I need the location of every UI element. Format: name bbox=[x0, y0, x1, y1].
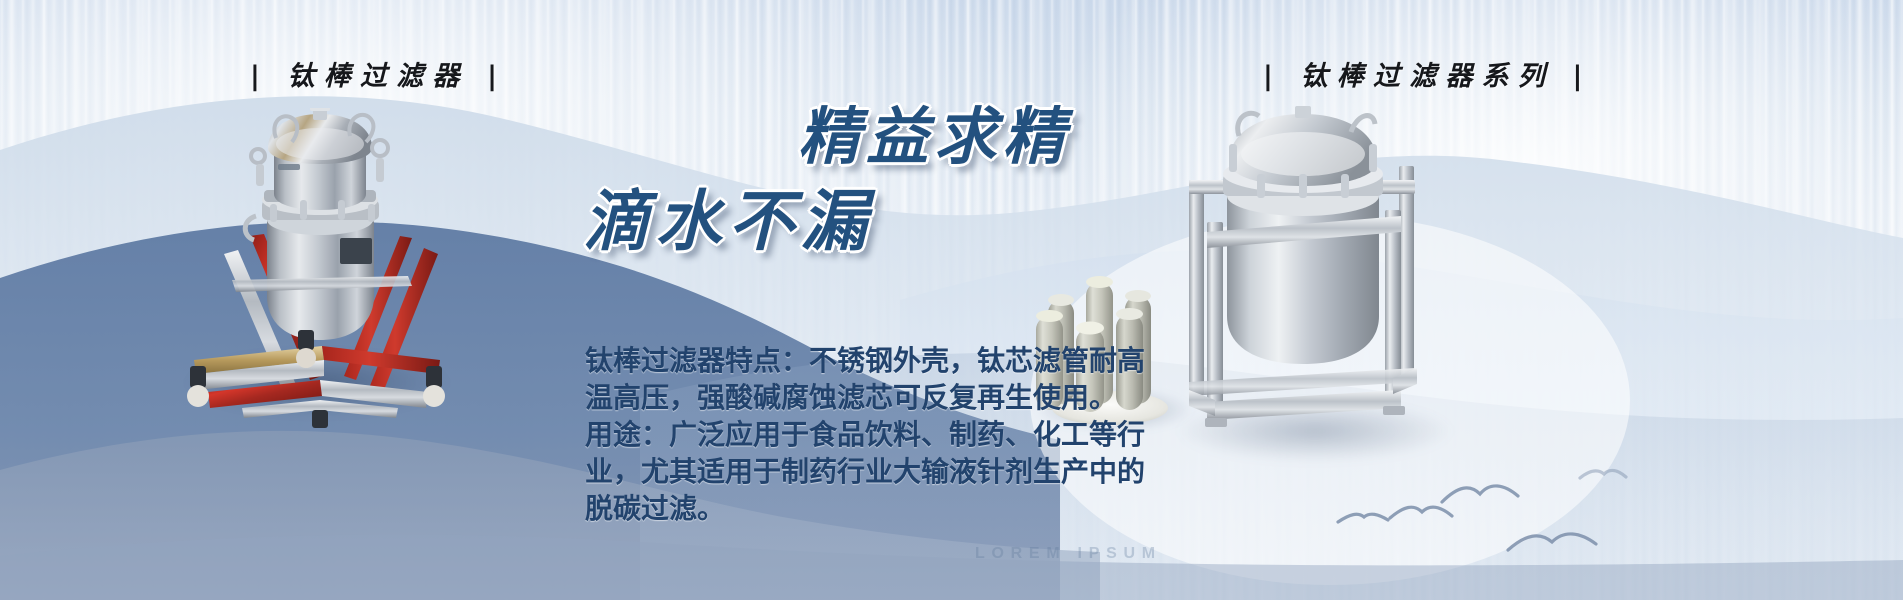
section-title-left: | 钛棒过滤器 | bbox=[250, 54, 506, 93]
body-line: 用途：广泛应用于食品饮料、制药、化工等行 bbox=[585, 416, 1205, 453]
headline-line-2: 滴水不漏 bbox=[583, 168, 873, 264]
product-image-left-titanium-filter-trolley bbox=[172, 108, 462, 428]
headline-line-1: 精益求精 bbox=[798, 86, 1071, 176]
body-copy: 钛棒过滤器特点：不锈钢外壳，钛芯滤管耐高 温高压，强酸碱腐蚀滤芯可反复再生使用。… bbox=[585, 342, 1205, 527]
body-line: 温高压，强酸碱腐蚀滤芯可反复再生使用。 bbox=[585, 379, 1205, 416]
body-line: 脱碳过滤。 bbox=[585, 490, 1205, 527]
product-banner: | 钛棒过滤器 | | 钛棒过滤器系列 | 精益求精 滴水不漏 钛棒过滤器特点：… bbox=[0, 0, 1903, 600]
bird-silhouettes bbox=[1330, 420, 1670, 570]
body-line: 钛棒过滤器特点：不锈钢外壳，钛芯滤管耐高 bbox=[585, 342, 1205, 379]
filter-vessel-left bbox=[262, 108, 379, 340]
watermark-text: LOREM IPSUM bbox=[975, 545, 1162, 563]
body-line: 业，尤其适用于制药行业大输液针剂生产中的 bbox=[585, 453, 1205, 490]
section-title-right: | 钛棒过滤器系列 | bbox=[1263, 54, 1592, 93]
